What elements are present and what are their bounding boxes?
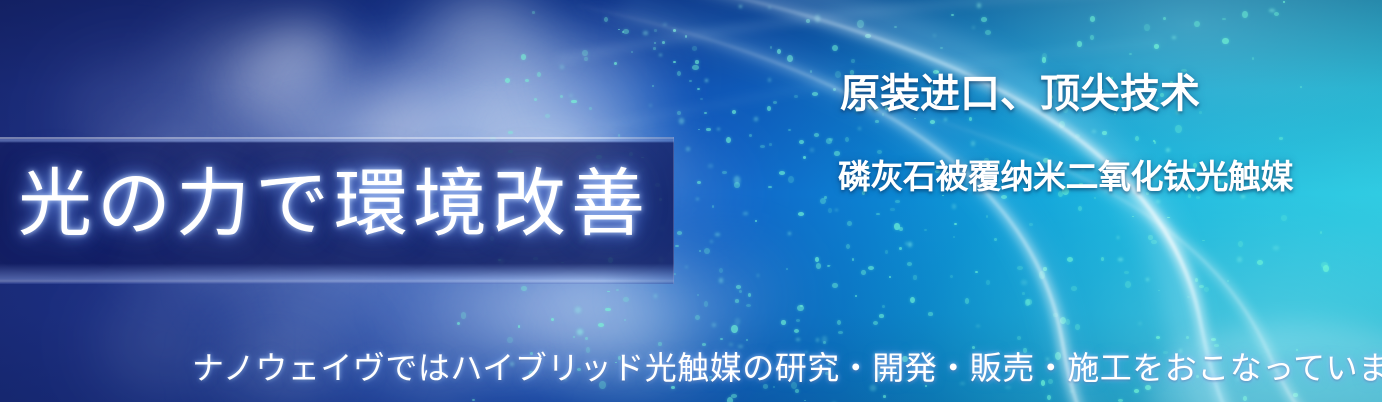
chinese-headline-primary: 原装进口、顶尖技术 [840,72,1200,116]
chinese-headline-secondary: 磷灰石被覆纳米二氧化钛光触媒 [838,158,1293,196]
headline-japanese: 光の力で環境改善 [18,163,650,245]
hero-banner: 光の力で環境改善 原装进口、顶尖技术 磷灰石被覆纳米二氧化钛光触媒 ナノウェイヴ… [0,0,1382,402]
tagline-japanese: ナノウェイヴではハイブリッド光触媒の研究・開発・販売・施工をおこなっています [192,349,1382,387]
